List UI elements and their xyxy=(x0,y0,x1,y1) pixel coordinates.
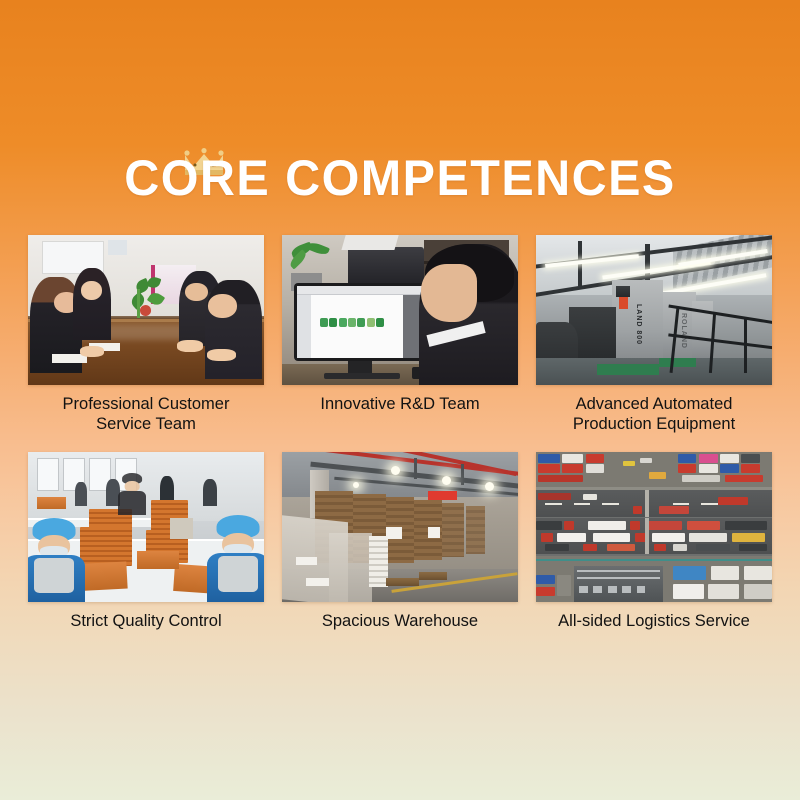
competence-card[interactable]: All-sided Logistics Service xyxy=(536,452,772,655)
caption-line: Professional Customer xyxy=(28,394,264,414)
caption-line: Strict Quality Control xyxy=(28,611,264,631)
card-caption: Spacious Warehouse xyxy=(282,611,518,655)
designer-at-computer-photo xyxy=(282,235,518,385)
caption-line: Service Team xyxy=(28,414,264,434)
caption-line: All-sided Logistics Service xyxy=(536,611,772,631)
aerial-container-port-photo xyxy=(536,452,772,602)
machine-label: ROLAND xyxy=(680,313,687,349)
worker-left xyxy=(28,518,85,602)
warehouse-pallets-photo xyxy=(282,452,518,602)
core-competences-banner: CORE COMPETENCES xyxy=(0,0,800,800)
worker-far xyxy=(118,473,146,515)
card-caption: Strict Quality Control xyxy=(28,611,264,655)
competences-grid: Professional Customer Service Team xyxy=(28,235,772,655)
page-title: CORE COMPETENCES xyxy=(12,150,788,206)
workers-inspecting-boxes-photo xyxy=(28,452,264,602)
machine-label: LAND 800 xyxy=(635,304,642,345)
monitor xyxy=(294,283,429,361)
offset-printing-press-photo: LAND 800 ROLAND xyxy=(536,235,772,385)
meeting-room-customer-service-photo xyxy=(28,235,264,385)
card-caption: All-sided Logistics Service xyxy=(536,611,772,655)
caption-line: Production Equipment xyxy=(536,414,772,434)
caption-line: Spacious Warehouse xyxy=(282,611,518,631)
card-caption: Professional Customer Service Team xyxy=(28,394,264,438)
title-block: CORE COMPETENCES xyxy=(0,150,800,206)
worker-right xyxy=(207,515,264,602)
caption-line: Innovative R&D Team xyxy=(282,394,518,414)
card-caption: Advanced Automated Production Equipment xyxy=(536,394,772,438)
competence-card[interactable]: Spacious Warehouse xyxy=(282,452,518,655)
row-spacer xyxy=(28,438,772,452)
card-caption: Innovative R&D Team xyxy=(282,394,518,438)
competence-card[interactable]: Innovative R&D Team xyxy=(282,235,518,438)
competence-card[interactable]: Professional Customer Service Team xyxy=(28,235,264,438)
competence-card[interactable]: LAND 800 ROLAND Advanced Automated Produ… xyxy=(536,235,772,438)
caption-line: Advanced Automated xyxy=(536,394,772,414)
competence-card[interactable]: Strict Quality Control xyxy=(28,452,264,655)
